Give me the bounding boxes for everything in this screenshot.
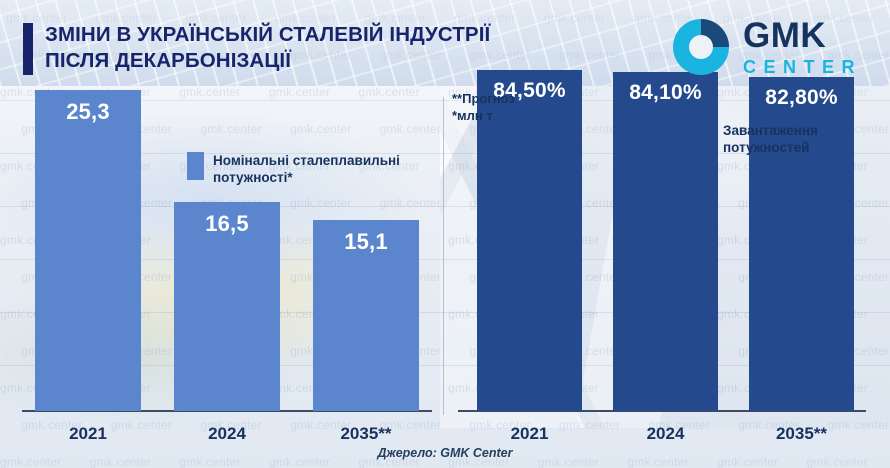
logo-ring-hole [689,35,713,59]
header: ЗМІНИ В УКРАЇНСЬКІЙ СТАЛЕВІЙ ІНДУСТРІЇ П… [0,0,890,92]
footnote-forecast: **Прогноз [452,90,515,107]
bar-2035: 15,1 [313,220,419,411]
bar-value-label: 25,3 [66,99,110,125]
bar-2021: 25,3 [35,90,141,411]
panel-divider [443,97,444,415]
source-credit: Джерело: GMK Center [0,446,890,460]
category-label-2035: 2035** [313,424,419,444]
logo-subtitle: CENTER [743,58,862,76]
title-line-2: ПІСЛЯ ДЕКАРБОНІЗАЦІЇ [45,48,490,74]
title-accent-bar [23,23,33,75]
title-text: ЗМІНИ В УКРАЇНСЬКІЙ СТАЛЕВІЙ ІНДУСТРІЇ П… [45,22,490,74]
legend-swatch-icon [697,122,714,150]
bar-value-label: 15,1 [344,229,388,255]
legend-label: Номінальні сталеплавильні потужності* [213,152,423,186]
legend-swatch-icon [187,152,204,180]
category-label-2024: 2024 [174,424,280,444]
legend-nominal-capacity: Номінальні сталеплавильні потужності* [187,152,423,186]
infographic-root: gmk.center gmk.center gmk.center gmk.cen… [0,0,890,468]
bar-value-label: 16,5 [205,211,249,237]
logo-name: GMK [743,18,862,53]
legend-label: Завантаження потужностей [723,122,883,156]
category-label-2021: 2021 [35,424,141,444]
logo-wordmark: GMK CENTER [743,18,862,76]
category-label-2035: 2035** [749,424,854,444]
footnote-units: *млн т [452,107,515,124]
category-label-2021: 2021 [477,424,582,444]
footnotes: **Прогноз *млн т [452,90,515,124]
title-line-1: ЗМІНИ В УКРАЇНСЬКІЙ СТАЛЕВІЙ ІНДУСТРІЇ [45,23,490,46]
gmk-center-logo[interactable]: GMK CENTER [673,18,862,76]
gmk-donut-logo-icon [673,19,729,75]
page-title: ЗМІНИ В УКРАЇНСЬКІЙ СТАЛЕВІЙ ІНДУСТРІЇ П… [23,22,490,75]
bar-2024: 16,5 [174,202,280,411]
legend-capacity-utilization: Завантаження потужностей [697,122,883,156]
category-label-2024: 2024 [613,424,718,444]
